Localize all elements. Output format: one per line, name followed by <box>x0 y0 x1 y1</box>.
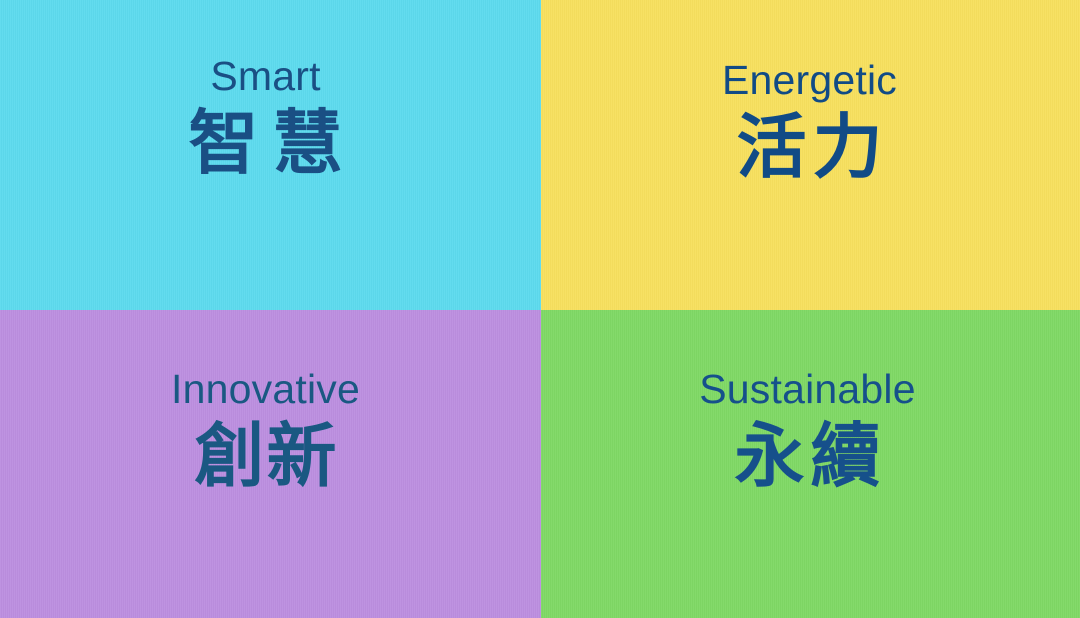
quadrant-innovative-text: Innovative 創新 <box>171 368 360 495</box>
quadrant-innovative[interactable]: Innovative 創新 <box>0 310 541 618</box>
brand-values-board: Smart 智慧 Energetic 活力 Innovative 創新 Sust… <box>0 0 1080 618</box>
quadrant-grid: Smart 智慧 Energetic 活力 Innovative 創新 Sust… <box>0 0 1080 618</box>
quadrant-energetic-label-zh: 活力 <box>730 108 888 186</box>
quadrant-energetic[interactable]: Energetic 活力 <box>541 0 1080 310</box>
quadrant-energetic-label-en: Energetic <box>722 59 897 102</box>
quadrant-sustainable-label-zh: 永續 <box>728 417 886 495</box>
quadrant-smart[interactable]: Smart 智慧 <box>0 0 541 310</box>
quadrant-innovative-label-en: Innovative <box>171 368 360 411</box>
quadrant-sustainable-label-en: Sustainable <box>699 368 915 411</box>
quadrant-smart-label-zh: 智慧 <box>175 104 357 182</box>
quadrant-sustainable[interactable]: Sustainable 永續 <box>541 310 1080 618</box>
quadrant-smart-text: Smart 智慧 <box>175 55 357 182</box>
quadrant-innovative-label-zh: 創新 <box>193 417 339 495</box>
quadrant-smart-label-en: Smart <box>210 55 320 98</box>
quadrant-energetic-text: Energetic 活力 <box>722 59 897 186</box>
quadrant-sustainable-text: Sustainable 永續 <box>699 368 915 495</box>
